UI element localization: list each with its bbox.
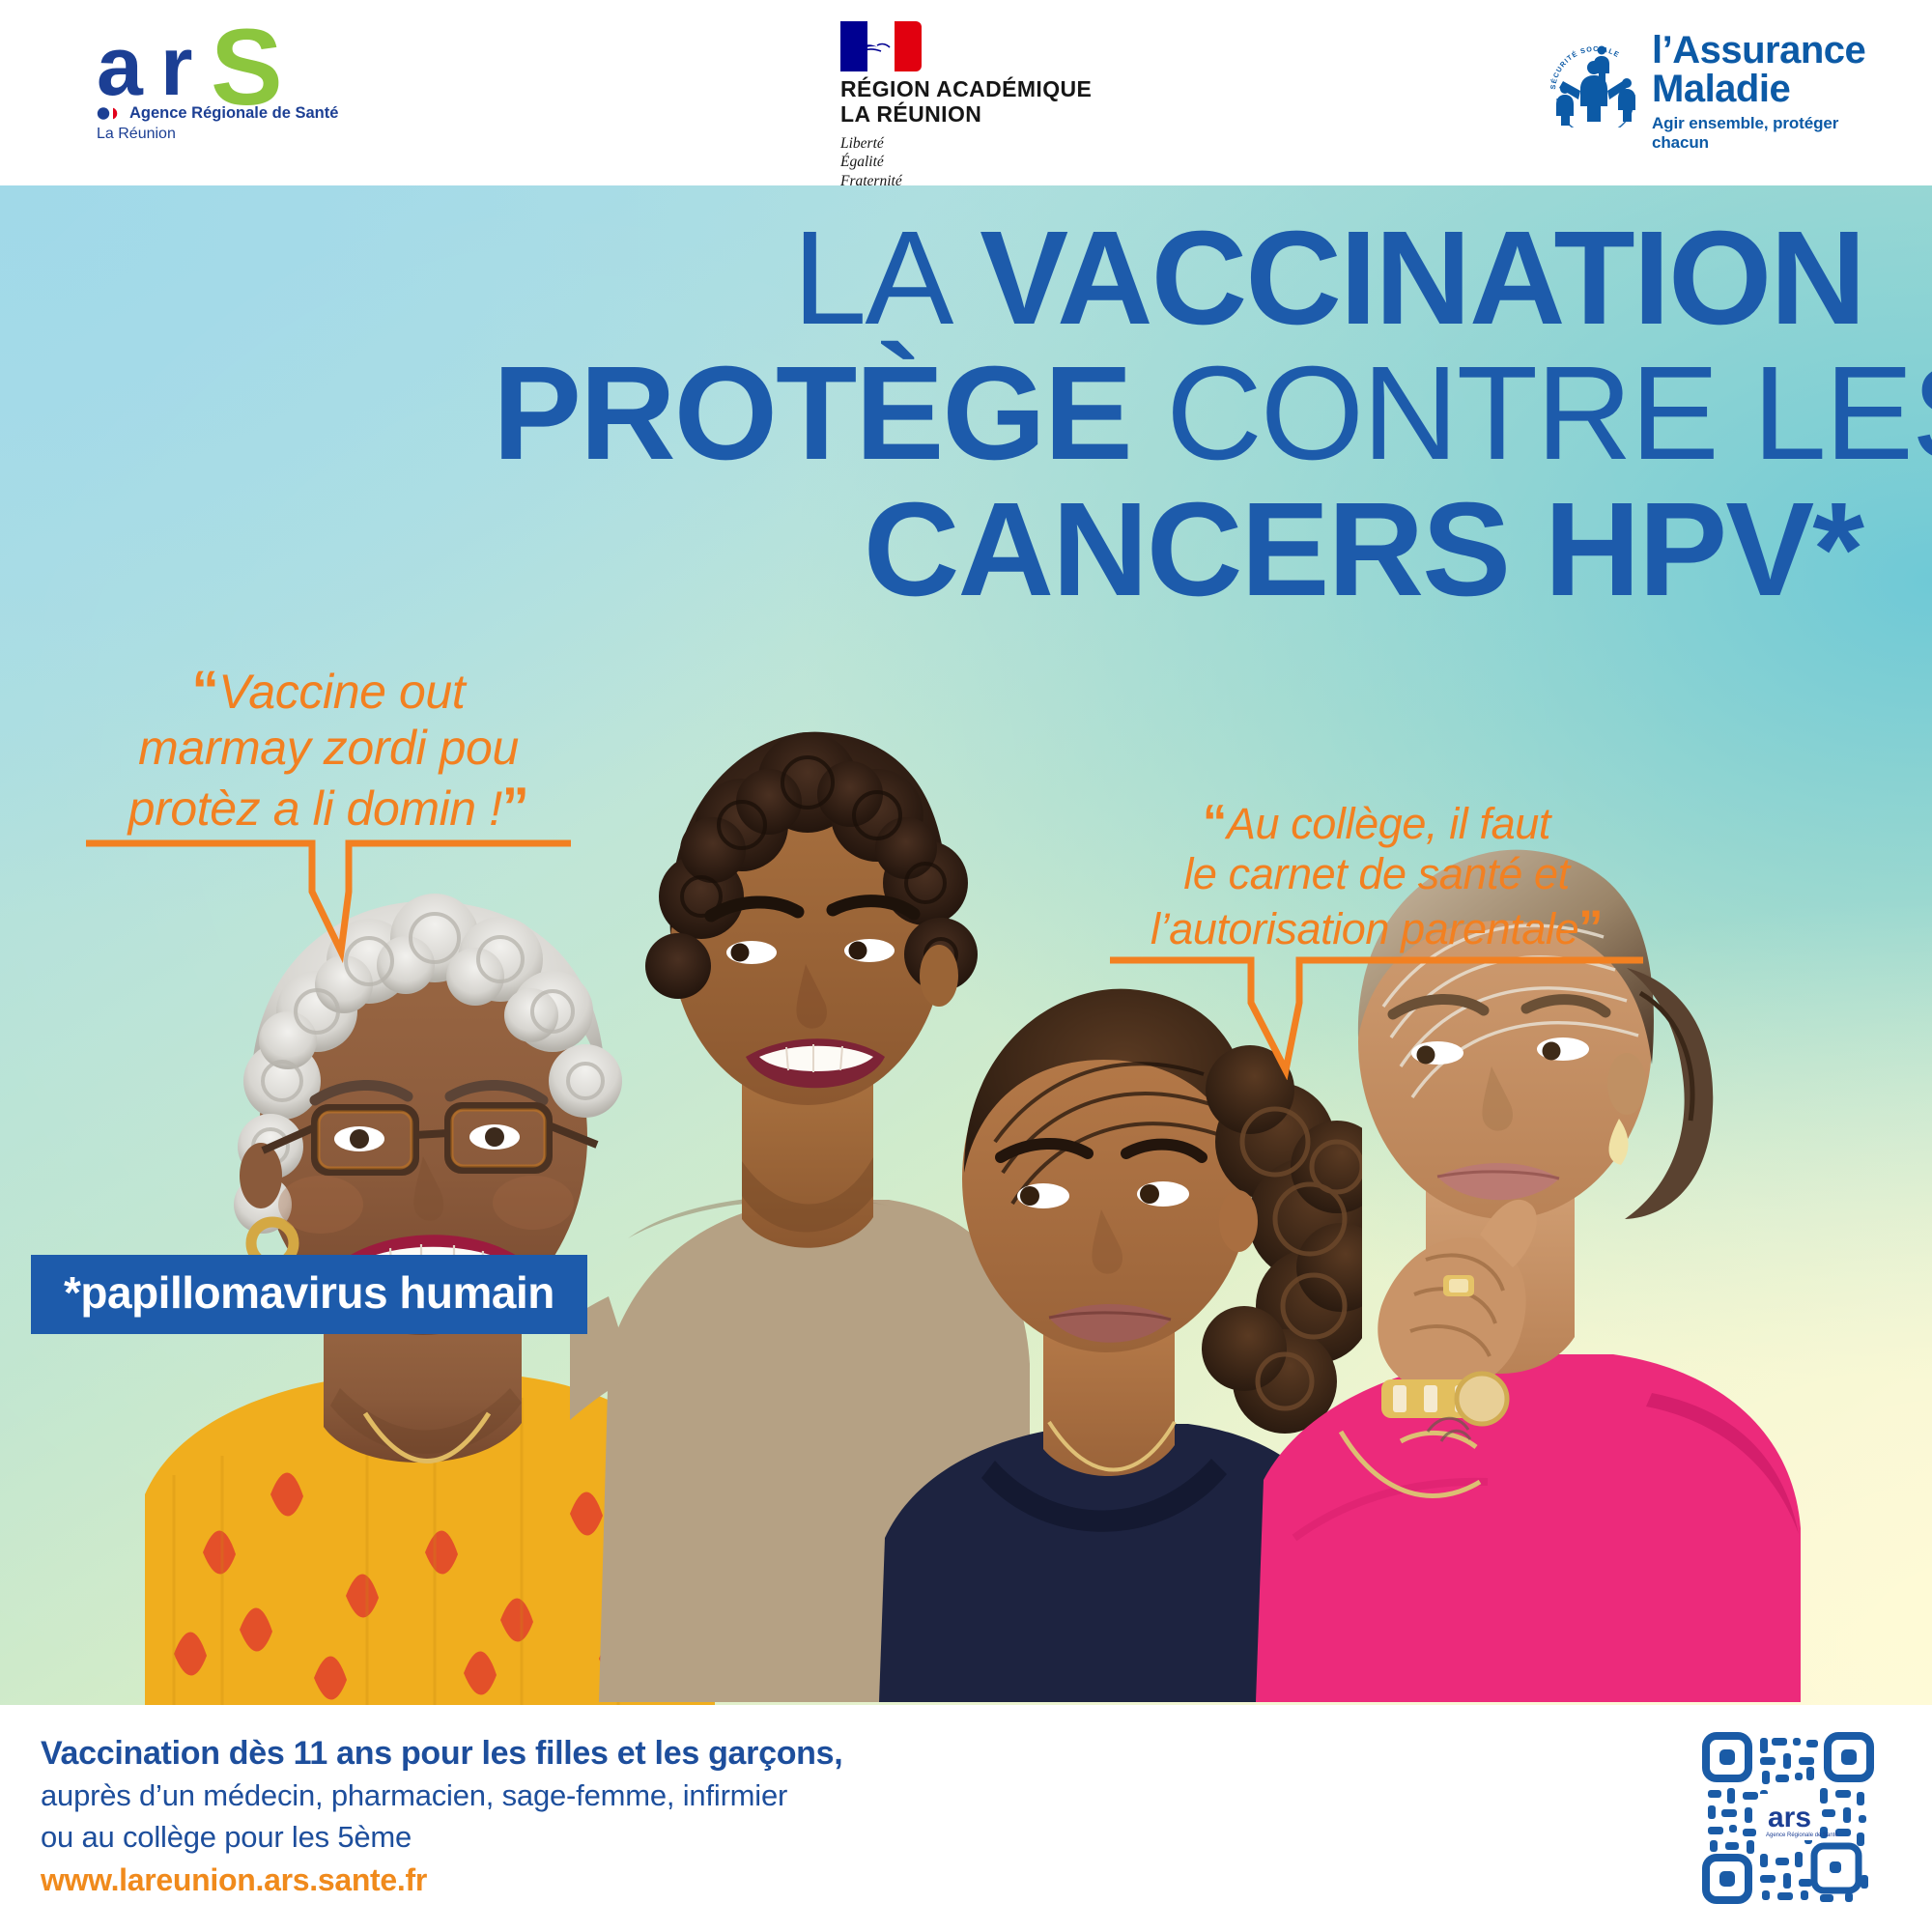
assurance-tagline: Agir ensemble, protéger chacun <box>1652 114 1865 153</box>
headline-line-3: CANCERS HPV* <box>493 486 1864 613</box>
footer-website-url[interactable]: www.lareunion.ars.sante.fr <box>41 1862 842 1898</box>
headline-asterisk: * <box>1812 475 1864 624</box>
ars-subtitle-row: Agence Régionale de Santé <box>97 104 338 123</box>
ars-letter-r: r <box>160 25 189 108</box>
quote-open-right: “ <box>1203 794 1227 849</box>
bubble-left-tail-icon <box>82 838 575 963</box>
marianne-flag-icon <box>840 21 922 71</box>
quote-close-right: ” <box>1578 899 1603 954</box>
poster-canvas: LA VACCINATION PROTÈGE CONTRE LES CANCER… <box>0 185 1932 1705</box>
qr-code-icon[interactable]: ars Agence Régionale de Santé <box>1700 1730 1876 1906</box>
footer-line-3: ou au collège pour les 5ème <box>41 1817 842 1859</box>
assurance-line-2: Maladie <box>1652 70 1865 108</box>
region-line-1: RÉGION ACADÉMIQUE <box>840 77 1107 102</box>
devise-liberte: Liberté <box>840 134 1107 154</box>
ars-letter-a: a <box>97 25 139 108</box>
bubble-left-text: “Vaccine out marmay zordi pou protèz a l… <box>82 659 575 838</box>
quote-open-left: “ <box>192 659 219 720</box>
headline-cancers-hpv: CANCERS HPV <box>864 475 1812 624</box>
headline-line-1: LA VACCINATION <box>493 214 1864 342</box>
bubble-left-line-2: marmay zordi pou <box>138 721 519 775</box>
poster-root: a r S Agence Régionale de Santé La Réuni… <box>0 0 1932 1932</box>
bubble-right-tail-icon <box>1106 954 1647 1080</box>
bubble-right-line-2: le carnet de santé et <box>1183 849 1569 898</box>
assurance-maladie-logo: SÉCURITÉ SOCIALE l’Assurance <box>1546 29 1855 145</box>
headline-vaccination: VACCINATION <box>980 204 1864 353</box>
ars-wordmark: a r S <box>97 29 319 100</box>
headline-protege: PROTÈGE <box>493 339 1166 488</box>
headline-line-2: PROTÈGE CONTRE LES <box>493 350 1864 477</box>
headline-block: LA VACCINATION PROTÈGE CONTRE LES CANCER… <box>493 214 1864 613</box>
svg-text:Agence Régionale de Santé: Agence Régionale de Santé <box>1766 1833 1838 1838</box>
speech-bubble-creole: “Vaccine out marmay zordi pou protèz a l… <box>82 659 575 968</box>
bubble-right-line-3: l’autorisation parentale <box>1151 904 1578 953</box>
footnote-badge: *papillomavirus humain <box>31 1255 587 1334</box>
qr-center-label: ars <box>1768 1802 1811 1833</box>
bubble-right-text: “Au collège, il faut le carnet de santé … <box>1106 794 1647 954</box>
devise-fraternite: Fraternité <box>840 172 1107 191</box>
ars-region-label: La Réunion <box>97 126 176 143</box>
headline-la: LA <box>793 204 980 353</box>
assurance-maladie-text: l’Assurance Maladie Agir ensemble, proté… <box>1652 31 1865 153</box>
bubble-left-line-1: Vaccine out <box>218 665 465 719</box>
footer-text-block: Vaccination dès 11 ans pour les filles e… <box>41 1732 842 1898</box>
bubble-left-line-3: protèz a li domin ! <box>128 781 502 836</box>
ars-dots-icon <box>97 106 126 121</box>
assurance-line-1: l’Assurance <box>1652 31 1865 70</box>
securite-sociale-figures-icon: SÉCURITÉ SOCIALE <box>1546 35 1646 128</box>
header-logos-bar: a r S Agence Régionale de Santé La Réuni… <box>0 0 1932 185</box>
footer-line-2: auprès d’un médecin, pharmacien, sage-fe… <box>41 1776 842 1817</box>
region-academique-logo: RÉGION ACADÉMIQUE LA RÉUNION Liberté Éga… <box>817 21 1107 191</box>
quote-close-left: ” <box>502 776 529 837</box>
region-line-2: LA RÉUNION <box>840 102 1107 128</box>
marianne-figure-icon <box>854 35 895 58</box>
footer-bar: Vaccination dès 11 ans pour les filles e… <box>0 1705 1932 1932</box>
speech-bubble-college: “Au collège, il faut le carnet de santé … <box>1106 794 1647 1085</box>
bubble-right-line-1: Au collège, il faut <box>1227 799 1550 848</box>
footer-line-1: Vaccination dès 11 ans pour les filles e… <box>41 1732 842 1776</box>
ars-logo: a r S Agence Régionale de Santé La Réuni… <box>97 29 319 145</box>
ars-subtitle: Agence Régionale de Santé <box>129 104 338 122</box>
devise-egalite: Égalité <box>840 153 1107 172</box>
headline-contre-les: CONTRE LES <box>1166 339 1932 488</box>
qr-code[interactable]: ars Agence Régionale de Santé <box>1700 1730 1876 1906</box>
devise-block: Liberté Égalité Fraternité <box>840 134 1107 191</box>
